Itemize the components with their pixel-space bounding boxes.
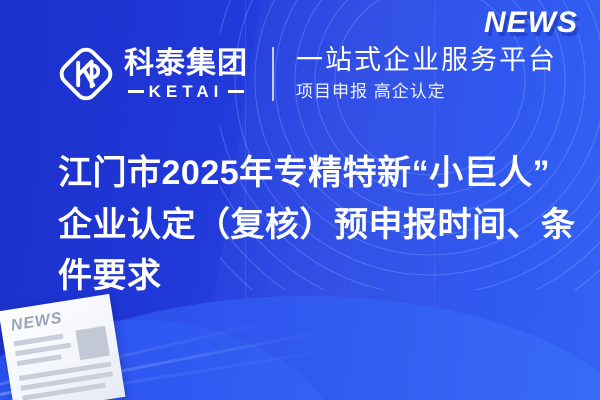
slogan-secondary: 项目申报 高企认定 bbox=[296, 81, 557, 103]
newspaper-text-line bbox=[17, 354, 62, 366]
brand-logo[interactable]: 科泰集团 KETAI bbox=[58, 46, 248, 102]
wordmark-dash-right bbox=[228, 90, 244, 93]
page-title-line: 企业认定（复核）预申报时间、条 bbox=[58, 200, 568, 252]
wordmark-dash-left bbox=[128, 90, 144, 93]
brand-wordmark: 科泰集团 KETAI bbox=[124, 48, 248, 100]
brand-name-en: KETAI bbox=[149, 83, 224, 100]
slogan-primary: 一站式企业服务平台 bbox=[296, 45, 557, 77]
news-banner: 科泰集团 KETAI 一站式企业服务平台 项目申报 高企认定 NEWS 江门市2… bbox=[0, 0, 600, 400]
page-title-line: 江门市2025年专精特新“小巨人” bbox=[58, 148, 568, 200]
brand-name-en-row: KETAI bbox=[124, 83, 248, 100]
page-title-line: 件要求 bbox=[58, 251, 568, 303]
brand-name-cn: 科泰集团 bbox=[124, 48, 248, 80]
page-title: 江门市2025年专精特新“小巨人” 企业认定（复核）预申报时间、条 件要求 bbox=[58, 148, 568, 303]
header-divider bbox=[272, 47, 274, 101]
newspaper-thumbnail bbox=[76, 326, 110, 360]
news-label: NEWS bbox=[484, 6, 578, 40]
ketai-diamond-kp-logo-icon bbox=[58, 46, 114, 102]
newspaper-text-lines bbox=[13, 332, 73, 370]
slogan-block: 一站式企业服务平台 项目申报 高企认定 bbox=[296, 45, 557, 103]
banner-header: 科泰集团 KETAI 一站式企业服务平台 项目申报 高企认定 bbox=[0, 36, 600, 112]
newspaper-illustration: NEWS bbox=[0, 294, 125, 400]
